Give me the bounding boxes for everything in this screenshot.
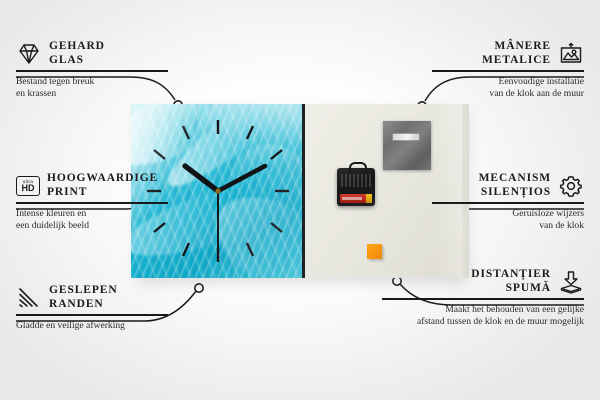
clock-hour-hand: [185, 166, 218, 191]
feature-subtitle: Eenvoudige installatie van de klok aan d…: [432, 76, 584, 101]
clock-tick-5: [247, 243, 253, 256]
feature-title: DISTANȚIER SPUMĂ: [471, 268, 551, 295]
foam-spacer: [367, 244, 382, 259]
hanger-slot: [392, 133, 420, 141]
beveled-edges-icon: [16, 286, 42, 310]
feature-subtitle: Geruisloze wijzers van de klok: [432, 208, 584, 233]
feature-gehard-glas: GEHARD GLAS Bestand tegen breuk en krass…: [16, 40, 168, 100]
ultra-hd-icon: ultra HD: [16, 176, 40, 196]
feature-rule: [16, 202, 168, 204]
feature-mecanism-silentios: MECANISM SILENȚIOS Geruisloze wijzers va…: [432, 172, 584, 232]
leader-dot-randen: [195, 284, 203, 292]
clock-tick-4: [271, 223, 282, 232]
gear-icon: [558, 174, 584, 198]
feature-rule: [432, 70, 584, 72]
picture-hanger-icon: [558, 42, 584, 66]
battery-band: [342, 197, 362, 200]
product-image: [131, 104, 469, 278]
clock-tick-11: [183, 126, 189, 139]
battery-terminal: [366, 194, 372, 203]
feature-subtitle: Gladde en veilige afwerking: [16, 320, 168, 332]
feature-rule: [432, 202, 584, 204]
mechanism-hook: [349, 162, 367, 173]
feature-title: MECANISM SILENȚIOS: [479, 172, 551, 199]
ultra-hd-icon-hd-text: HD: [22, 184, 35, 193]
feature-rule: [16, 70, 168, 72]
clock-tick-1: [247, 126, 253, 139]
feature-distantier-spuma: DISTANȚIER SPUMĂ Maakt het behouden van …: [382, 268, 584, 328]
feature-manere-metalice: MÂNERE METALICE Eenvoudige installatie v…: [432, 40, 584, 100]
battery: [340, 194, 372, 203]
feature-title: GESLEPEN RANDEN: [49, 284, 118, 311]
feature-rule: [16, 314, 168, 316]
clock-minute-hand: [218, 166, 265, 191]
diamond-icon: [16, 42, 42, 66]
feature-geslepen-randen: GESLEPEN RANDEN Gladde en veilige afwerk…: [16, 284, 168, 332]
mechanism-label: [341, 174, 371, 187]
clock-tick-10: [154, 150, 165, 159]
feature-title: GEHARD GLAS: [49, 40, 105, 67]
clock-mechanism-box: [337, 168, 375, 206]
metal-hanger-plate: [383, 121, 431, 170]
feature-hoogwaardige-print: ultra HD HOOGWAARDIGE PRINT Intense kleu…: [16, 172, 168, 232]
feature-title: HOOGWAARDIGE PRINT: [47, 172, 158, 199]
clock-center-cap: [215, 188, 220, 193]
feature-rule: [382, 298, 584, 300]
infographic-canvas: GEHARD GLAS Bestand tegen breuk en krass…: [0, 0, 600, 400]
feature-subtitle: Maakt het behouden van een gelijke afsta…: [382, 304, 584, 329]
feature-subtitle: Bestand tegen breuk en krassen: [16, 76, 168, 101]
clock-tick-7: [183, 243, 189, 256]
foam-spacer-icon: [558, 270, 584, 294]
clock-tick-2: [271, 150, 282, 159]
feature-subtitle: Intense kleuren en een duidelijk beeld: [16, 208, 168, 233]
feature-title: MÂNERE METALICE: [482, 40, 551, 67]
